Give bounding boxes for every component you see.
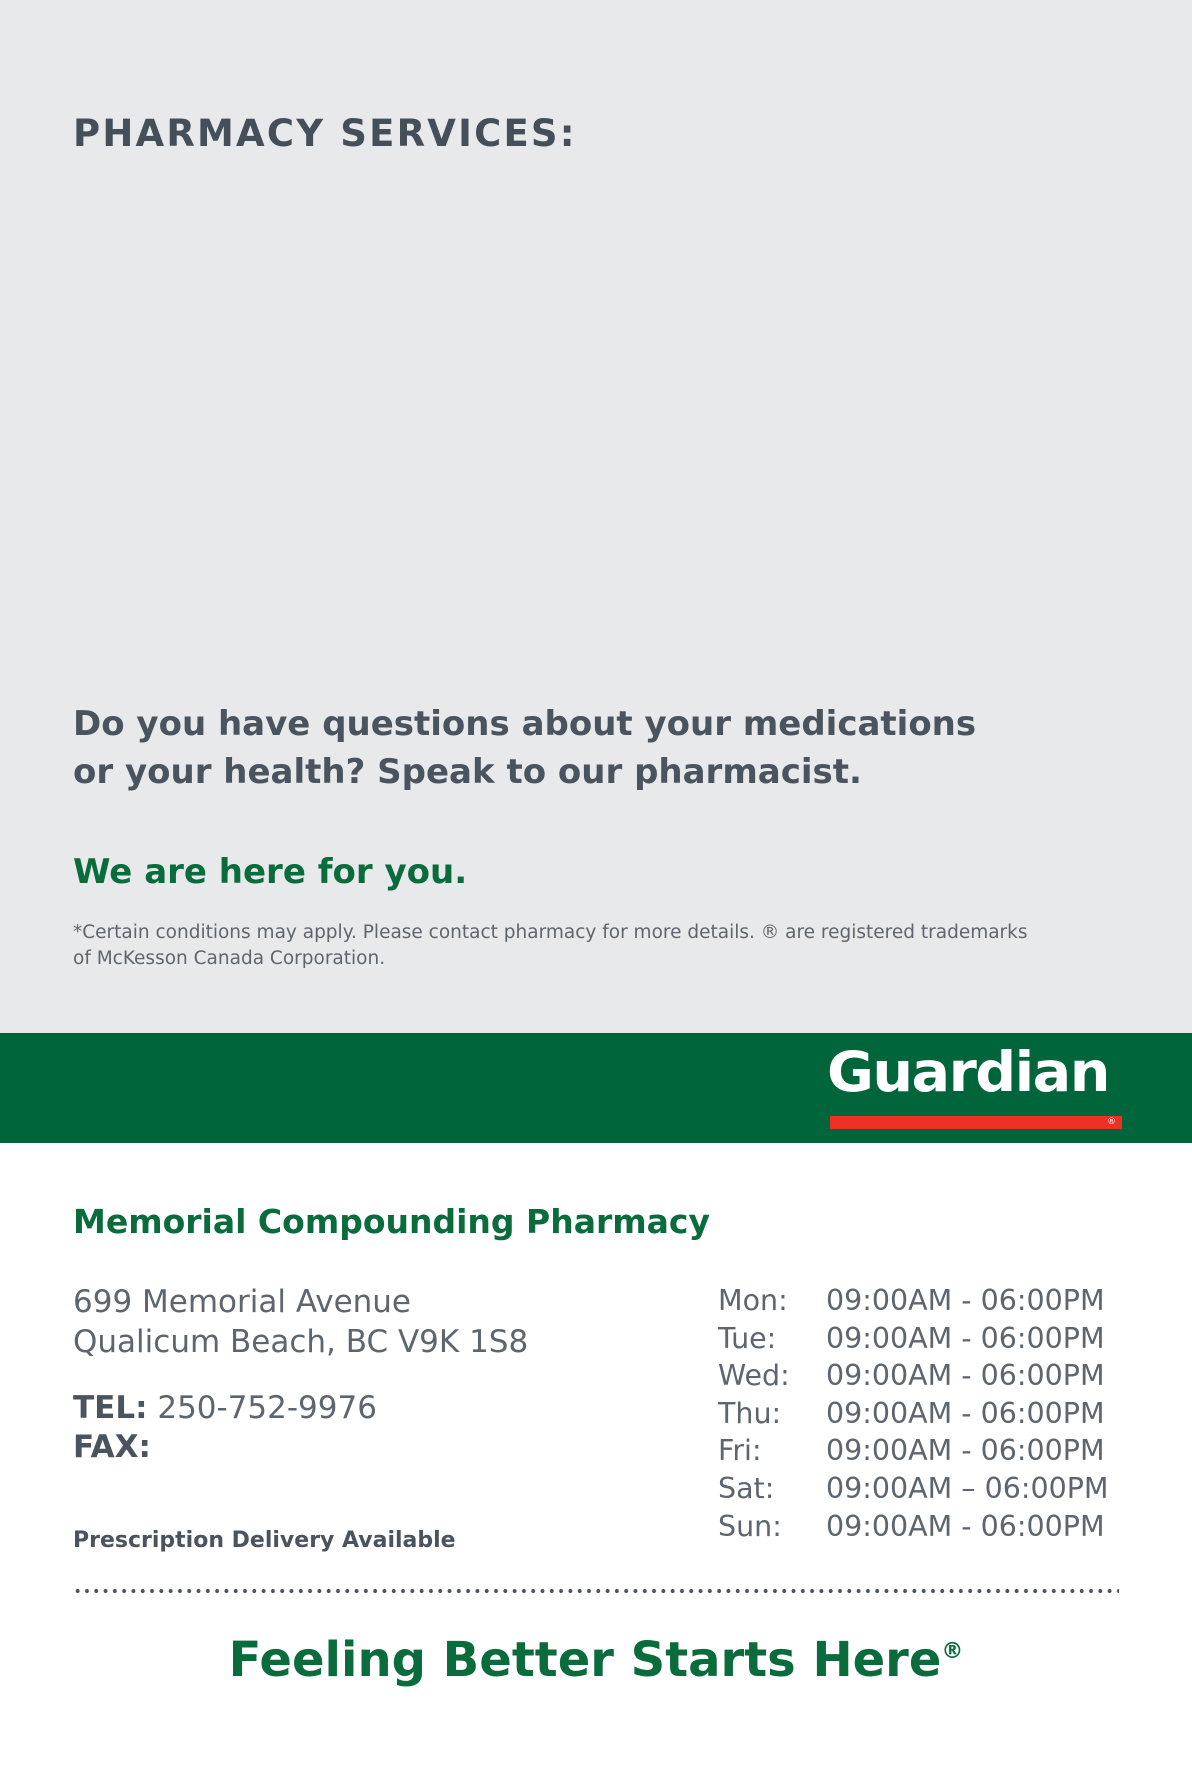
store-name: Memorial Compounding Pharmacy	[73, 1205, 710, 1238]
page-title: PHARMACY SERVICES:	[73, 115, 577, 152]
address-line-1: 699 Memorial Avenue	[73, 1282, 593, 1322]
table-row: Sun: 09:00AM - 06:00PM	[718, 1508, 1118, 1546]
telephone-label: TEL:	[73, 1390, 147, 1426]
lead-copy-line-2: or your health? Speak to our pharmacist.	[73, 748, 1033, 796]
hours-day: Sun:	[718, 1508, 818, 1546]
fax-label: FAX:	[73, 1429, 151, 1465]
table-row: Fri: 09:00AM - 06:00PM	[718, 1432, 1118, 1470]
hours-day: Sat:	[718, 1470, 818, 1508]
hours-day: Tue:	[718, 1320, 818, 1358]
hours-time: 09:00AM – 06:00PM	[818, 1470, 1118, 1508]
hours-time: 09:00AM - 06:00PM	[818, 1432, 1118, 1470]
table-row: Wed: 09:00AM - 06:00PM	[718, 1357, 1118, 1395]
hours-day: Wed:	[718, 1357, 818, 1395]
hours-day: Fri:	[718, 1432, 818, 1470]
store-hours-body: Mon: 09:00AM - 06:00PM Tue: 09:00AM - 06…	[718, 1282, 1118, 1545]
table-row: Sat: 09:00AM – 06:00PM	[718, 1470, 1118, 1508]
here-for-you-tagline: We are here for you.	[73, 855, 467, 889]
footer-tagline: Feeling Better Starts Here®	[0, 1634, 1192, 1687]
hours-time: 09:00AM - 06:00PM	[818, 1282, 1118, 1320]
lead-copy: Do you have questions about your medicat…	[73, 700, 1033, 797]
hours-time: 09:00AM - 06:00PM	[818, 1395, 1118, 1433]
table-row: Mon: 09:00AM - 06:00PM	[718, 1282, 1118, 1320]
delivery-note: Prescription Delivery Available	[73, 1530, 456, 1552]
hours-time: 09:00AM - 06:00PM	[818, 1357, 1118, 1395]
disclaimer-text: *Certain conditions may apply. Please co…	[73, 920, 1048, 973]
hours-time: 09:00AM - 06:00PM	[818, 1320, 1118, 1358]
hours-time: 09:00AM - 06:00PM	[818, 1508, 1118, 1546]
registered-trademark-icon: ®	[941, 1639, 963, 1664]
footer-tagline-text: Feeling Better Starts Here	[229, 1632, 942, 1688]
telephone-line: TEL: 250-752-9976	[73, 1389, 593, 1429]
lead-copy-line-1: Do you have questions about your medicat…	[73, 700, 1033, 748]
dotted-divider	[73, 1588, 1119, 1594]
table-row: Tue: 09:00AM - 06:00PM	[718, 1320, 1118, 1358]
pharmacy-services-panel: PHARMACY SERVICES: Do you have questions…	[0, 0, 1192, 1033]
hours-day: Thu:	[718, 1395, 818, 1433]
store-hours-table: Mon: 09:00AM - 06:00PM Tue: 09:00AM - 06…	[718, 1282, 1118, 1545]
guardian-wordmark: Guardian	[827, 1042, 1134, 1104]
phone-group: TEL: 250-752-9976 FAX:	[73, 1389, 593, 1468]
registered-trademark-icon: ®	[1105, 1116, 1118, 1129]
guardian-red-rule	[830, 1116, 1122, 1129]
fax-line: FAX:	[73, 1428, 593, 1468]
table-row: Thu: 09:00AM - 06:00PM	[718, 1395, 1118, 1433]
address-line-2: Qualicum Beach, BC V9K 1S8	[73, 1322, 593, 1362]
hours-day: Mon:	[718, 1282, 818, 1320]
store-contact-block: 699 Memorial Avenue Qualicum Beach, BC V…	[73, 1282, 593, 1468]
telephone-value[interactable]: 250-752-9976	[157, 1390, 377, 1426]
guardian-logo: Guardian ®	[827, 1042, 1122, 1134]
